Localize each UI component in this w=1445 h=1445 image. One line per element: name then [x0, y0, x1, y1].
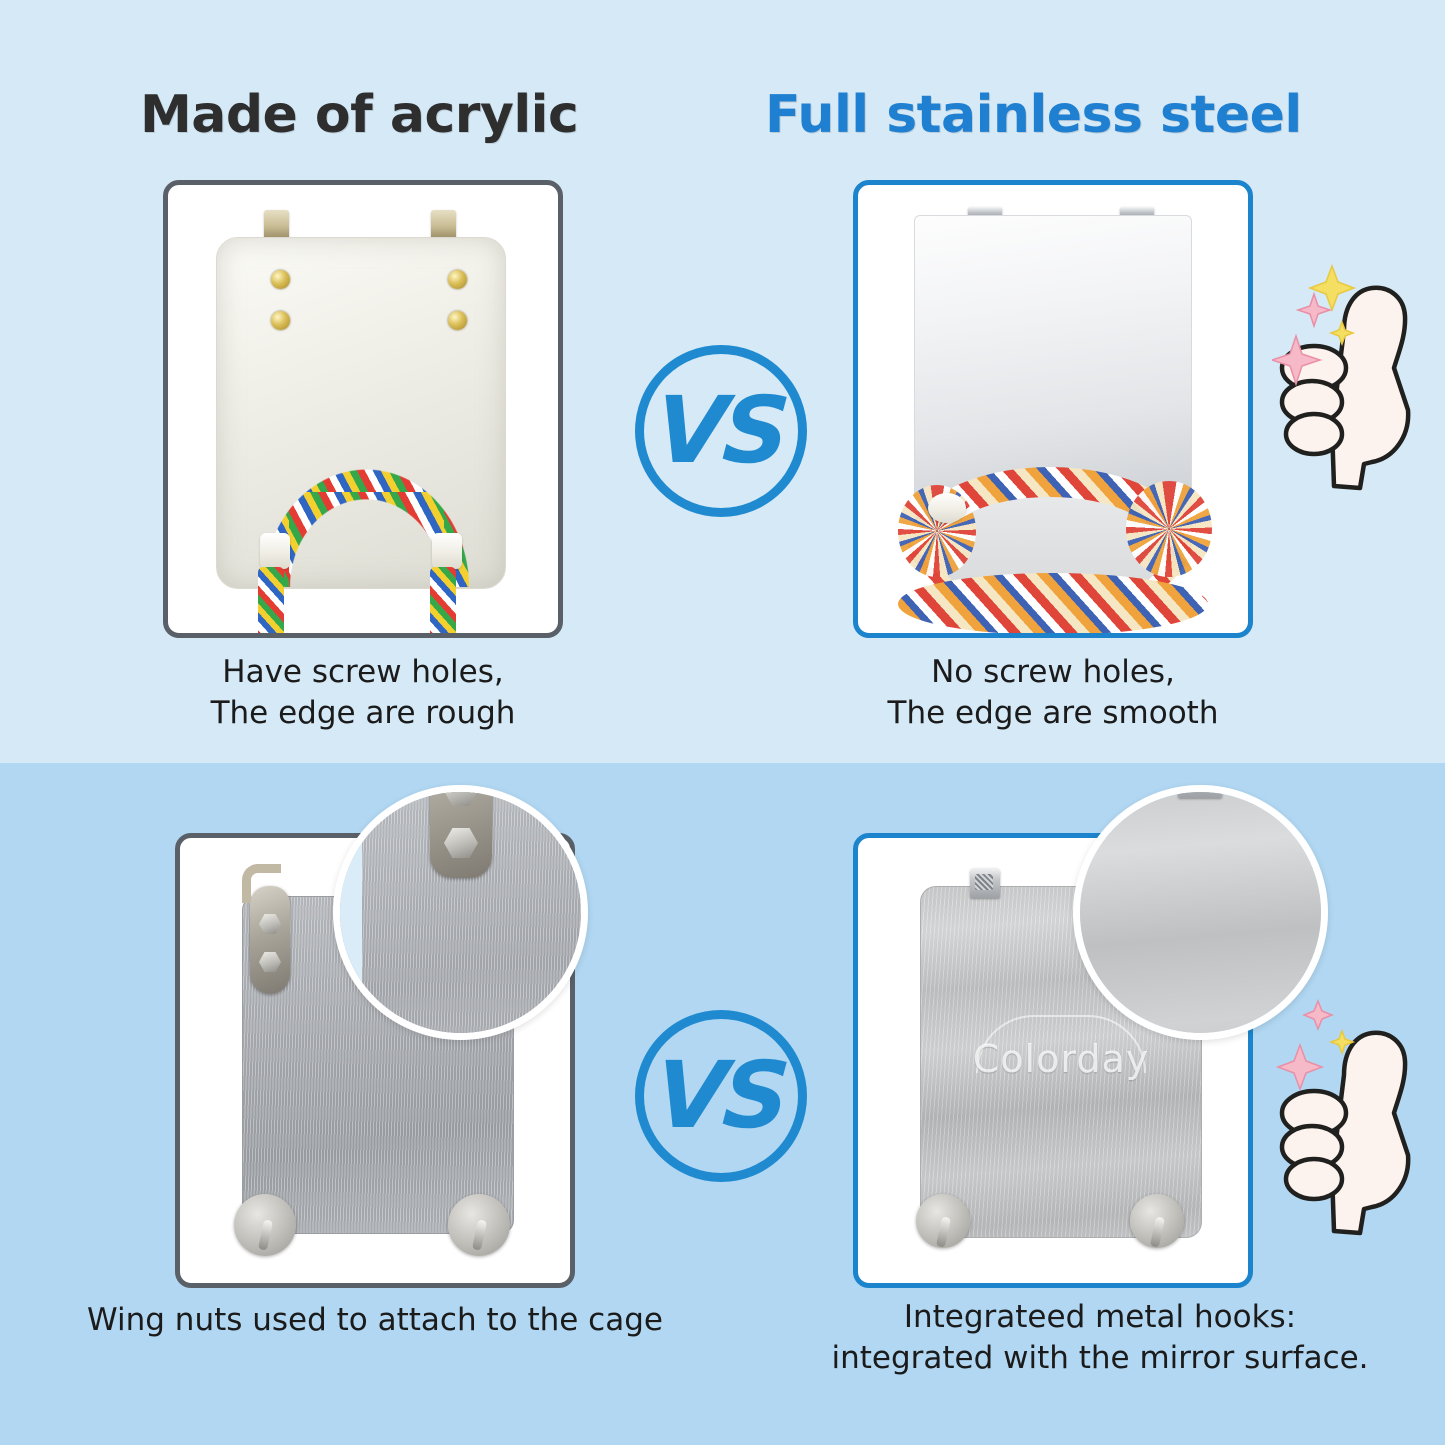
wing-nut-icon [448, 1194, 510, 1256]
photo-stainless-mirror [858, 185, 1248, 633]
page-title-stainless: Full stainless steel [765, 85, 1302, 145]
integrated-hook-icon [970, 868, 1000, 898]
wing-nut-icon [916, 1194, 970, 1248]
vs-badge: VS [635, 1010, 807, 1182]
screw-hole-icon [271, 270, 290, 289]
photo-frame-stainless-mirror [853, 180, 1253, 638]
screw-hole-icon [448, 311, 467, 330]
screw-hole-icon [448, 270, 467, 289]
thumbs-up-icon [1272, 995, 1444, 1245]
rope-lower-loop [898, 573, 1208, 635]
rope-leg [430, 567, 456, 638]
wing-nut-icon [234, 1194, 296, 1256]
caption-wing-nuts: Wing nuts used to attach to the cage [65, 1300, 685, 1341]
caption-integrated-hooks: Integrateed metal hooks: integrated with… [790, 1297, 1410, 1379]
integrated-hook-icon [1178, 785, 1222, 798]
vs-badge: VS [635, 345, 807, 517]
photo-acrylic-mirror [168, 185, 558, 633]
rope-sleeve [432, 533, 462, 569]
zoom-callout-content [333, 785, 588, 1040]
wing-nut-icon [1130, 1194, 1184, 1248]
rope-tassel [1126, 481, 1212, 577]
vs-label: VS [653, 385, 789, 477]
page-title-acrylic: Made of acrylic [140, 85, 578, 145]
infographic-page: Made of acrylic Full stainless steel [0, 0, 1445, 1445]
caption-acrylic: Have screw holes, The edge are rough [163, 652, 563, 734]
rope-sleeve [928, 493, 966, 523]
screw-hole-icon [271, 311, 290, 330]
hook-tab-icon [264, 210, 289, 238]
rope-sleeve [260, 533, 290, 569]
vs-label: VS [653, 1050, 789, 1142]
photo-frame-acrylic-mirror [163, 180, 563, 638]
bolted-hook-icon [250, 886, 290, 994]
caption-stainless: No screw holes, The edge are smooth [853, 652, 1253, 734]
rope-leg [258, 567, 284, 638]
zoom-callout-bolted-hook [333, 785, 588, 1040]
hook-tab-icon [431, 210, 456, 238]
thumbs-up-icon [1272, 250, 1444, 500]
